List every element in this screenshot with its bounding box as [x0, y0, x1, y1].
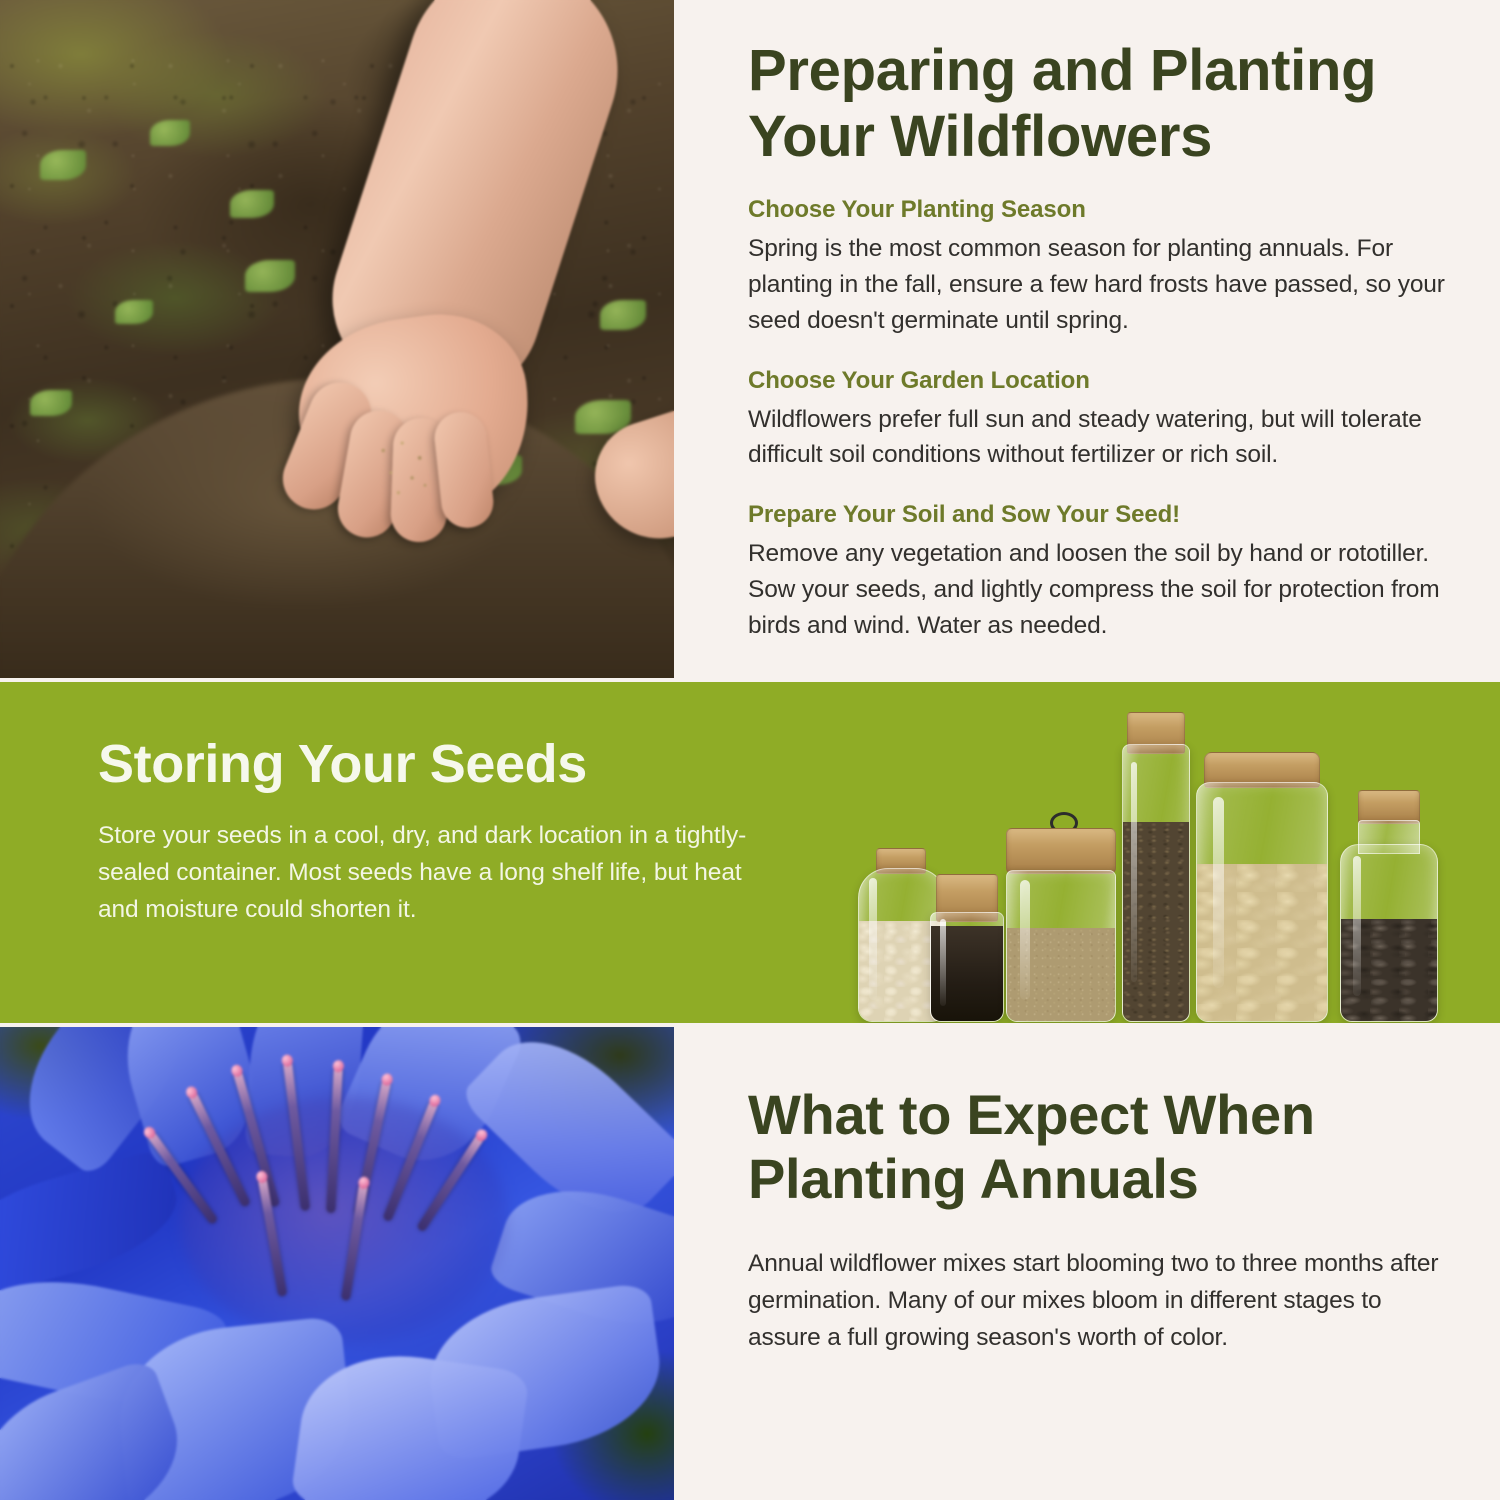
subheading: Choose Your Planting Season — [748, 196, 1458, 224]
bottom-text-column: What to Expect When Planting Annuals Ann… — [748, 1027, 1458, 1500]
subheading: Choose Your Garden Location — [748, 367, 1458, 395]
macro-blur — [0, 1027, 674, 1500]
tall-tube-jar — [1122, 716, 1188, 1022]
seed-jars-image — [850, 692, 1470, 1022]
body-text: Annual wildflower mixes start blooming t… — [748, 1245, 1458, 1357]
infographic-page: Preparing and Planting Your Wildflowers … — [0, 0, 1500, 1500]
body-text: Wildflowers prefer full sun and steady w… — [748, 402, 1458, 474]
black-seed-jar — [930, 874, 1002, 1022]
storing-body: Store your seeds in a cool, dry, and dar… — [98, 817, 748, 929]
pumpkin-seed-jar — [1196, 754, 1326, 1022]
glass-highlight — [1353, 856, 1362, 997]
subheading: Prepare Your Soil and Sow Your Seed! — [748, 501, 1458, 529]
cork-lid — [1006, 828, 1116, 874]
section-title: What to Expect When Planting Annuals — [748, 1027, 1458, 1211]
glass-highlight — [1020, 880, 1030, 1000]
block-planting-season: Choose Your Planting Season Spring is th… — [748, 196, 1458, 338]
glass-highlight — [940, 919, 946, 1005]
body-text: Spring is the most common season for pla… — [748, 231, 1458, 338]
sunflower-seed-jar — [1340, 792, 1436, 1022]
section-storing-your-seeds: Storing Your Seeds Store your seeds in a… — [0, 682, 1500, 1023]
green-band-text: Storing Your Seeds Store your seeds in a… — [98, 736, 748, 928]
top-text-column: Preparing and Planting Your Wildflowers … — [748, 0, 1458, 678]
section-preparing-and-planting: Preparing and Planting Your Wildflowers … — [0, 0, 1500, 678]
block-garden-location: Choose Your Garden Location Wildflowers … — [748, 367, 1458, 474]
glass-highlight — [1131, 762, 1137, 983]
tan-seed-jar — [1006, 826, 1114, 1022]
cork-lid — [1358, 790, 1420, 824]
body-text: Remove any vegetation and loosen the soi… — [748, 536, 1458, 643]
depth-of-field-blur — [0, 0, 674, 678]
block-prepare-soil: Prepare Your Soil and Sow Your Seed! Rem… — [748, 501, 1458, 643]
blue-cornflower-image — [0, 1027, 674, 1500]
page-title: Preparing and Planting Your Wildflowers — [748, 0, 1458, 170]
glass-highlight — [1213, 797, 1225, 987]
storing-title: Storing Your Seeds — [98, 736, 748, 793]
glass-highlight — [869, 878, 877, 1000]
hands-sowing-seeds-image — [0, 0, 674, 678]
section-what-to-expect: What to Expect When Planting Annuals Ann… — [0, 1027, 1500, 1500]
